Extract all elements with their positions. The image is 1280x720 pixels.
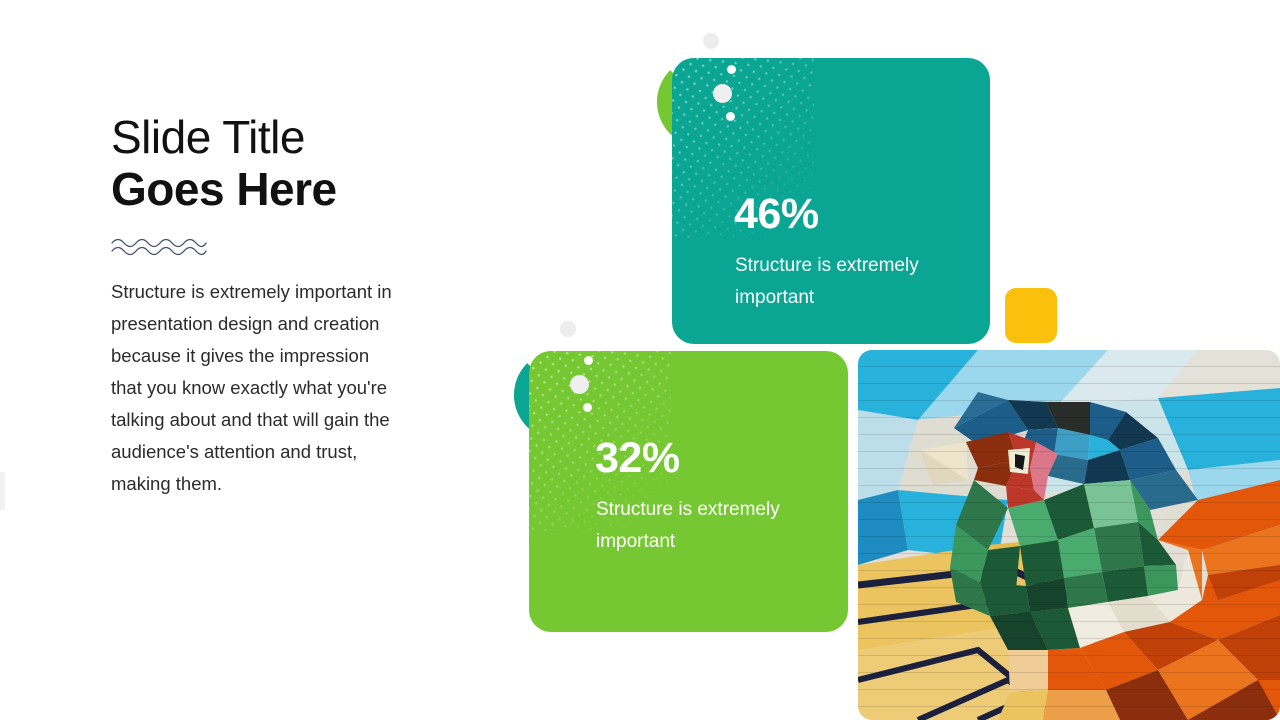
bird-mural-photo — [858, 350, 1280, 720]
slide-canvas: Slide Title Goes Here Structure is extre… — [0, 0, 1280, 720]
body-paragraph: Structure is extremely important in pres… — [111, 276, 396, 500]
card-dot-small-bottom — [726, 112, 735, 121]
card-dot-small-top — [727, 65, 736, 74]
stat-card-teal[interactable]: 46% Structure is extremely important — [672, 58, 990, 344]
card-dot-large — [570, 375, 589, 394]
stat-card-green[interactable]: 32% Structure is extremely important — [529, 351, 848, 632]
yellow-accent-square — [1005, 288, 1057, 343]
teal-card-outer-gray-dot — [703, 33, 719, 49]
double-wave-squiggle-icon — [111, 236, 207, 256]
stat-caption: Structure is extremely important — [596, 494, 836, 558]
page-title-line1: Slide Title — [111, 112, 411, 162]
stat-caption: Structure is extremely important — [735, 250, 975, 314]
green-card-outer-gray-dot — [560, 321, 576, 337]
stat-value: 32% — [595, 436, 680, 480]
card-dot-small-top — [584, 356, 593, 365]
card-dot-small-bottom — [583, 403, 592, 412]
left-edge-sliver — [0, 472, 5, 510]
title-block: Slide Title Goes Here — [111, 112, 411, 216]
stat-value: 46% — [734, 192, 819, 236]
card-dot-large — [713, 84, 732, 103]
page-title-line2: Goes Here — [111, 162, 411, 216]
